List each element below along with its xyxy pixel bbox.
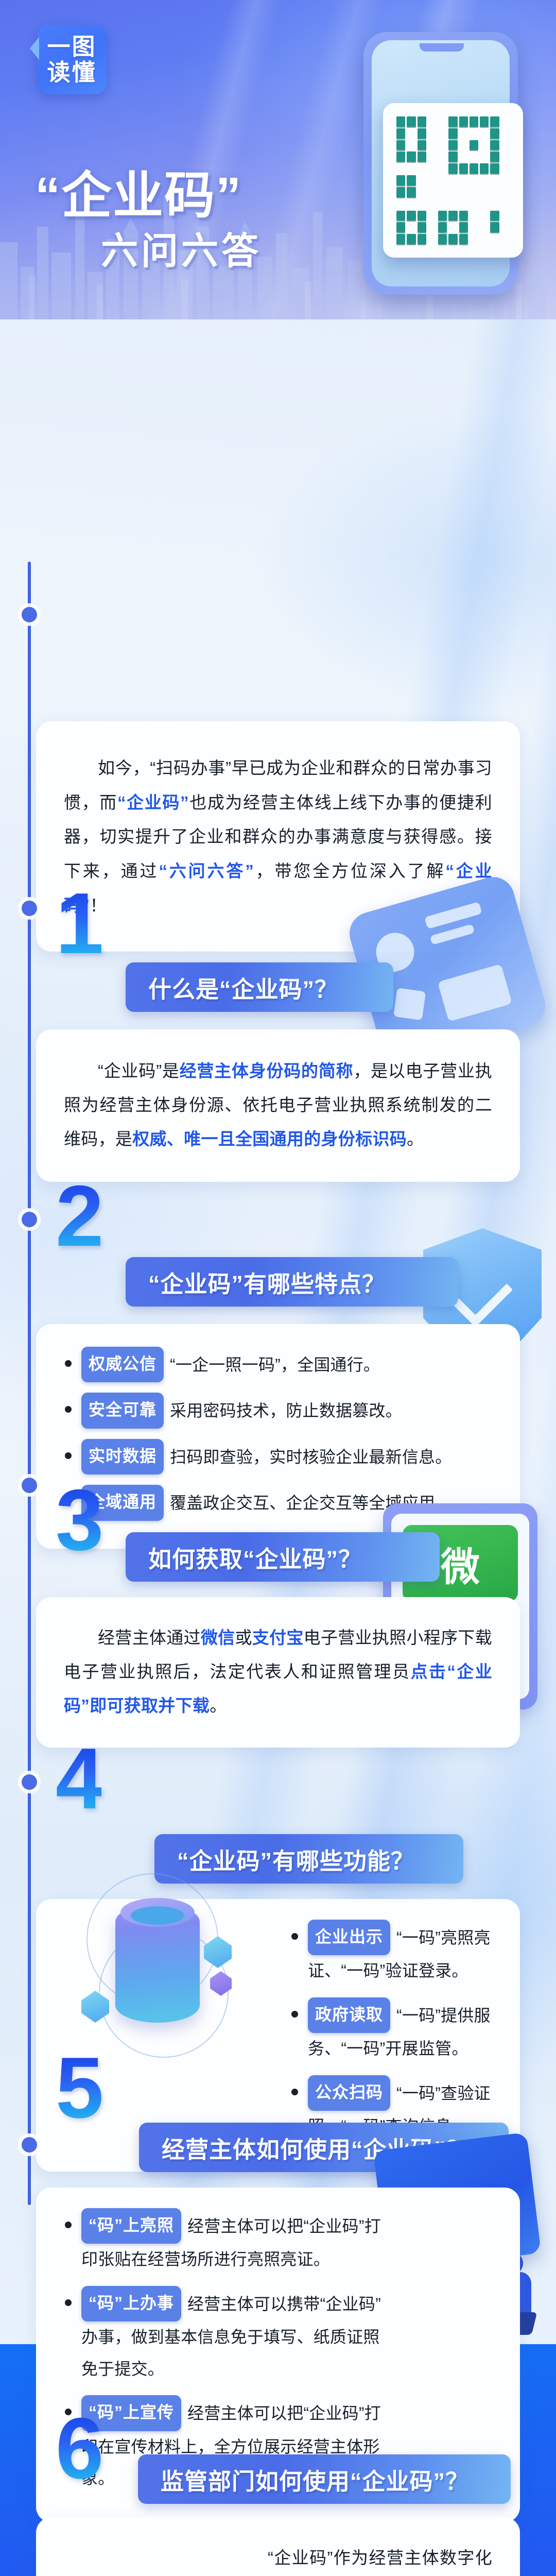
s1-text-1: “企业码”是 — [98, 1061, 180, 1080]
yitu-dudong-badge: 一图 读懂 — [37, 25, 107, 94]
hero-banner: 一图 读懂 “企业码” 六问六答 — [0, 0, 556, 319]
list-item: 企业出示“一码”亮照亮证、“一码”验证登录。 — [290, 1920, 492, 1987]
section-1-answer: “企业码”是经营主体身份码的简称，是以电子营业执照为经营主体身份源、依托电子营业… — [64, 1054, 492, 1156]
section-1-answer-card: “企业码”是经营主体身份码的简称，是以电子营业执照为经营主体身份源、依托电子营业… — [36, 1029, 520, 1182]
list-item: 权威公信“一企一照一码”，全国通行。 — [64, 1347, 492, 1382]
section-1: 1 什么是“企业码”？ “企业码”是经营主体身份码的简称，是以电子营业执照为经营… — [0, 886, 556, 1154]
s3-text-4: 。 — [210, 1696, 227, 1715]
intro-highlight-2: “六问六答” — [159, 861, 254, 880]
qr-code-icon — [396, 116, 510, 244]
section-4: 4 “企业码”有哪些功能？ 企业出示“一码”亮照亮证、“一码”验证登录。 政府读… — [0, 1741, 556, 2050]
bullet-text: 采用密码技术，防止数据篡改。 — [170, 1401, 402, 1420]
s3-highlight-1: 微信 — [201, 1628, 235, 1647]
timeline-dot-1 — [22, 607, 37, 622]
section-5-question-bar: 经营主体如何使用“企业码”？ — [139, 2123, 509, 2172]
bullet-tag: 权威公信 — [81, 1347, 164, 1382]
section-3-answer-card: 经营主体通过微信或支付宝电子营业执照小程序下载电子营业执照后，法定代表人和证照管… — [36, 1597, 520, 1748]
section-2-number: 2 — [56, 1179, 101, 1253]
section-5-number: 5 — [56, 2050, 101, 2125]
s1-text-3: 。 — [407, 1129, 424, 1148]
section-6-answer: “企业码”作为经营主体数字化身份通用标识，可作为多部门联合检查、跨部门综合监管等… — [234, 2541, 492, 2576]
section-6-number: 6 — [56, 2411, 101, 2485]
bullet-text: 扫码即查验，实时核验企业最新信息。 — [170, 1448, 451, 1466]
section-5: 5 经营主体如何使用“企业码”？ “码”上亮照经营主体可以把“企业码”打印张贴在… — [0, 2050, 556, 2411]
section-3: 3 微 支 如何获取“企业码”？ 经营主体通过微信或支付宝电子营业执照小程序下载… — [0, 1483, 556, 1761]
timeline-dot-6 — [22, 2137, 37, 2153]
section-5-question: 经营主体如何使用“企业码”？ — [162, 2131, 470, 2164]
section-4-question-bar: “企业码”有哪些功能？ — [154, 1834, 463, 1884]
s1-highlight-1: 经营主体身份码的简称 — [180, 1061, 354, 1080]
section-3-answer: 经营主体通过微信或支付宝电子营业执照小程序下载电子营业执照后，法定代表人和证照管… — [64, 1621, 492, 1723]
bullet-tag: 实时数据 — [81, 1439, 164, 1475]
section-6: 6 监管部门如何使用“企业码”？ “企业码”作为经营主体数字化身份通用标识，可作… — [0, 2411, 556, 2576]
timeline-dot-2 — [22, 901, 37, 916]
bullet-tag: 企业出示 — [308, 1920, 390, 1955]
intro-highlight-1: “企业码” — [117, 793, 189, 812]
hero-phone-illustration — [339, 16, 545, 305]
list-item: “码”上亮照经营主体可以把“企业码”打印张贴在经营场所进行亮照亮证。 — [64, 2208, 383, 2276]
section-3-question: 如何获取“企业码”？ — [148, 1540, 362, 1574]
bullet-text: “一企一照一码”，全国通行。 — [170, 1355, 380, 1374]
intro-text-3: ，带您全方位深入了解 — [254, 861, 445, 880]
list-item: “码”上办事经营主体可以携带“企业码”办事，做到基本信息免于填写、纸质证照免于提… — [64, 2286, 383, 2385]
s1-highlight-2: 权威、唯一且全国通用的身份标识码 — [132, 1129, 407, 1148]
page-title: “企业码” — [35, 155, 242, 228]
section-2-question: “企业码”有哪些特点？ — [148, 1265, 386, 1299]
bullet-tag: “码”上办事 — [81, 2286, 181, 2321]
section-2-question-bar: “企业码”有哪些特点？ — [126, 1257, 458, 1307]
section-3-question-bar: 如何获取“企业码”？ — [126, 1532, 440, 1582]
timeline-rail — [28, 562, 31, 2205]
phone-notch — [420, 43, 464, 52]
section-2: 2 “企业码”有哪些特点？ 权威公信“一企一照一码”，全国通行。 安全可靠采用密… — [0, 1179, 556, 1467]
s3-text-2: 或 — [235, 1628, 252, 1647]
s3-text-1: 经营主体通过 — [98, 1628, 201, 1647]
section-4-question: “企业码”有哪些功能？ — [177, 1842, 414, 1876]
hero-qr-card — [383, 103, 523, 258]
list-item: 安全可靠采用密码技术，防止数据篡改。 — [64, 1393, 492, 1428]
section-1-question-bar: 什么是“企业码”？ — [126, 962, 393, 1012]
timeline-dot-4 — [22, 1478, 37, 1493]
s3-highlight-2: 支付宝 — [252, 1628, 304, 1647]
bullet-tag: “码”上亮照 — [81, 2208, 181, 2244]
section-1-question: 什么是“企业码”？ — [148, 971, 338, 1004]
section-3-number: 3 — [56, 1483, 101, 1557]
s6-text-1: “企业码”作为经营主体数字化身份通用标识，可作为 — [234, 2548, 492, 2576]
section-6-question-bar: 监管部门如何使用“企业码”？ — [138, 2454, 511, 2504]
section-4-number: 4 — [56, 1741, 101, 1816]
page-subtitle: 六问六答 — [101, 221, 262, 275]
timeline-dot-3 — [22, 1212, 37, 1227]
badge-line-1: 一图 — [47, 35, 96, 59]
section-1-number: 1 — [56, 886, 101, 960]
bullet-tag: 安全可靠 — [81, 1393, 164, 1428]
bullet-tag: 政府读取 — [308, 1997, 390, 2033]
section-6-answer-card: “企业码”作为经营主体数字化身份通用标识，可作为多部门联合检查、跨部门综合监管等… — [36, 2517, 520, 2576]
timeline-dot-5 — [22, 1774, 37, 1790]
badge-line-2: 读懂 — [47, 60, 96, 84]
list-item: 实时数据扫码即查验，实时核验企业最新信息。 — [64, 1439, 492, 1475]
section-6-question: 监管部门如何使用“企业码”？ — [161, 2463, 469, 2496]
